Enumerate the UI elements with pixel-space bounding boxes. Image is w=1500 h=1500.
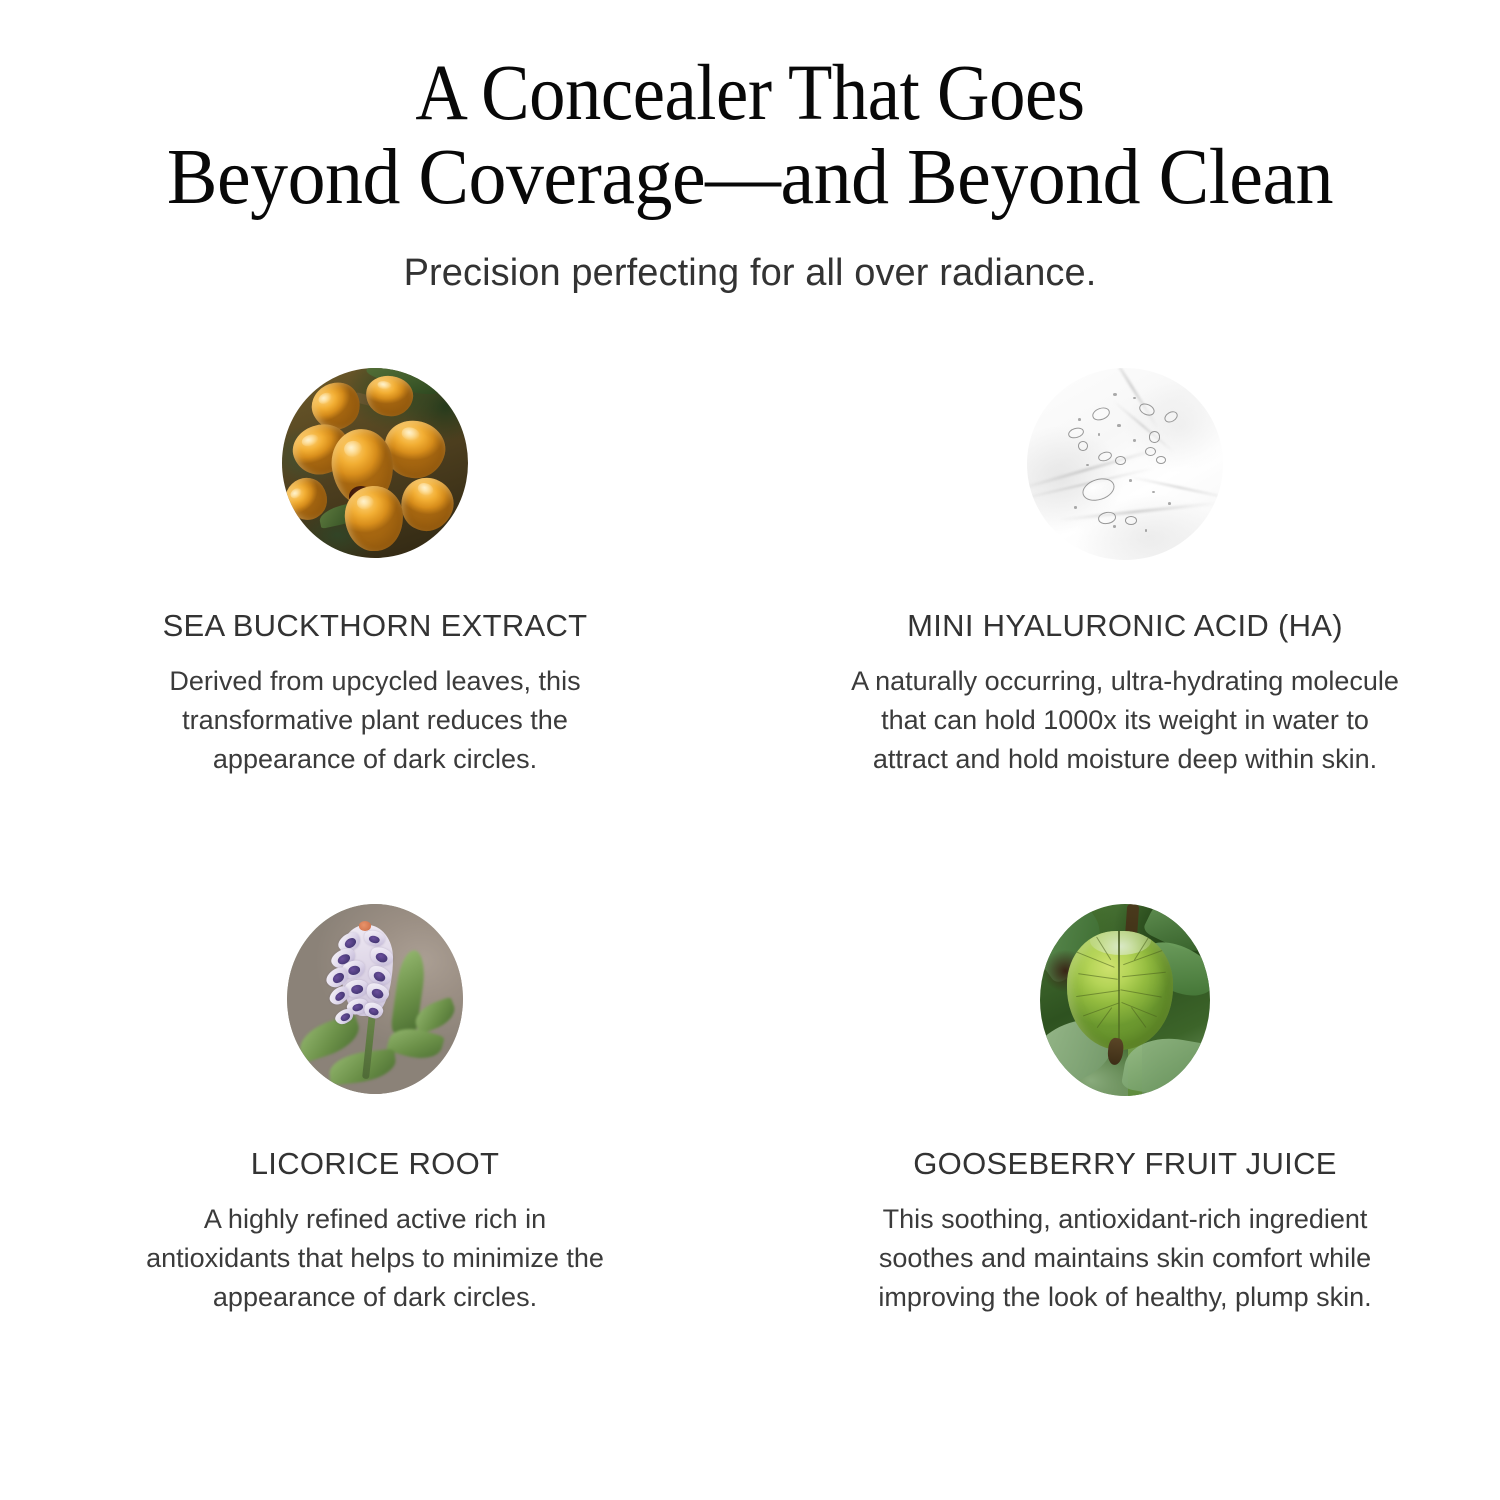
ingredient-description: A highly refined active rich in antioxid… — [135, 1182, 615, 1317]
ingredient-title: SEA BUCKTHORN EXTRACT — [163, 558, 588, 644]
licorice-root-flower-photo — [287, 904, 463, 1094]
ingredient-description: A naturally occurring, ultra-hydrating m… — [849, 644, 1401, 779]
gel-dot — [1145, 529, 1148, 531]
hyaluronic-acid-gel-texture-photo — [1027, 368, 1223, 560]
ingredient-description: Derived from upcycled leaves, this trans… — [135, 644, 615, 779]
husk-vein — [1120, 989, 1162, 998]
gel-dot — [1117, 424, 1121, 427]
husk-vein — [1121, 1002, 1157, 1017]
ingredient-grid: SEA BUCKTHORN EXTRACT Derived from upcyc… — [0, 368, 1500, 1317]
page-title-line-1: A Concealer That Goes — [60, 52, 1440, 136]
page-header: A Concealer That Goes Beyond Coverage—an… — [0, 52, 1500, 296]
gel-dot — [1078, 418, 1081, 421]
gooseberry-husk — [1067, 931, 1172, 1050]
husk-vein — [1122, 971, 1166, 977]
page-title-line-2: Beyond Coverage—and Beyond Clean — [30, 136, 1470, 220]
gel-bubble — [1125, 516, 1137, 525]
gel-bubble — [1078, 441, 1088, 451]
gel-shading — [1027, 368, 1223, 560]
husk-tip — [1107, 1038, 1125, 1066]
husk-vein — [1076, 990, 1120, 997]
ingredient-card-licorice-root: LICORICE ROOT A highly refined active ri… — [0, 904, 750, 1317]
sea-buckthorn-berries-photo — [282, 368, 468, 558]
gooseberry-fruit-photo — [1040, 904, 1210, 1096]
gel-dot — [1074, 506, 1077, 508]
ingredient-title: LICORICE ROOT — [251, 1094, 499, 1182]
ingredient-card-gooseberry: GOOSEBERRY FRUIT JUICE This soothing, an… — [750, 904, 1500, 1317]
gel-dot — [1133, 439, 1136, 441]
husk-vein — [1083, 1003, 1119, 1017]
gel-dot — [1098, 433, 1101, 435]
gel-texture-artwork — [1027, 368, 1223, 560]
berry-shape — [343, 484, 405, 552]
sea-buckthorn-artwork — [282, 368, 468, 558]
ingredient-description: This soothing, antioxidant-rich ingredie… — [849, 1182, 1401, 1317]
page-title: A Concealer That Goes Beyond Coverage—an… — [0, 52, 1500, 220]
gel-bubble — [1115, 456, 1126, 465]
ingredient-title: MINI HYALURONIC ACID (HA) — [907, 560, 1343, 644]
ingredient-card-hyaluronic-acid: MINI HYALURONIC ACID (HA) A naturally oc… — [750, 368, 1500, 904]
ingredient-card-sea-buckthorn: SEA BUCKTHORN EXTRACT Derived from upcyc… — [0, 368, 750, 904]
gel-dot — [1086, 464, 1089, 466]
flower-tip — [359, 921, 371, 931]
gooseberry-artwork — [1040, 904, 1210, 1096]
husk-vein — [1078, 973, 1118, 980]
ingredient-title: GOOSEBERRY FRUIT JUICE — [913, 1096, 1336, 1182]
page-subtitle: Precision perfecting for all over radian… — [0, 220, 1500, 296]
gel-bubble — [1149, 431, 1161, 443]
ingredient-benefits-page: A Concealer That Goes Beyond Coverage—an… — [0, 0, 1500, 1500]
berry-shape — [393, 470, 461, 539]
licorice-flower-artwork — [287, 904, 463, 1094]
